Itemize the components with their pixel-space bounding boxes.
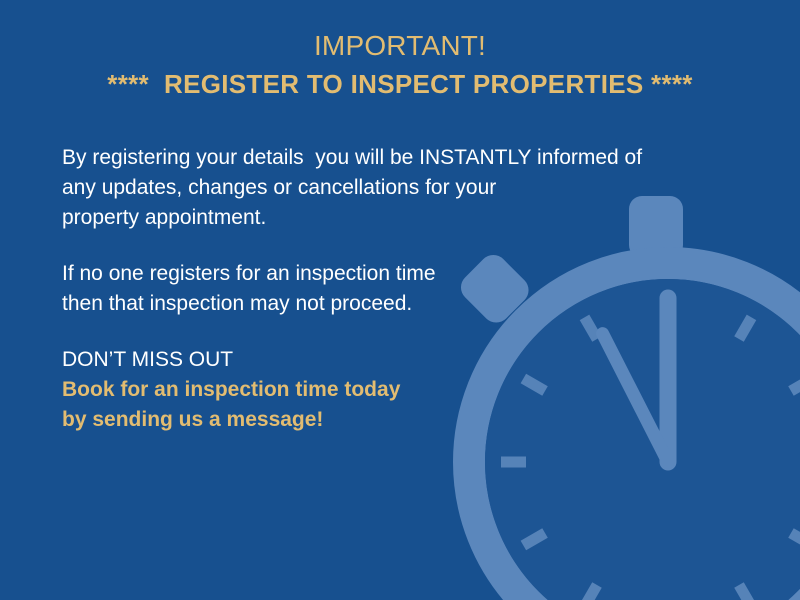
paragraph-call-to-action: DON’T MISS OUT Book for an inspection ti… <box>62 345 722 435</box>
body-block: By registering your details you will be … <box>62 143 722 435</box>
dont-miss-out-line: DON’T MISS OUT <box>62 345 722 375</box>
paragraph-registering: By registering your details you will be … <box>62 143 722 233</box>
paragraph-line: property appointment. <box>62 203 722 233</box>
heading-important: IMPORTANT! <box>0 28 800 64</box>
paragraph-no-registration: If no one registers for an inspection ti… <box>62 259 722 319</box>
heading-register: **** REGISTER TO INSPECT PROPERTIES **** <box>0 64 800 104</box>
paragraph-line: any updates, changes or cancellations fo… <box>62 173 722 203</box>
send-message-line: by sending us a message! <box>62 405 722 435</box>
paragraph-line: then that inspection may not proceed. <box>62 289 722 319</box>
slide-canvas: IMPORTANT! **** REGISTER TO INSPECT PROP… <box>0 0 800 600</box>
book-inspection-line: Book for an inspection time today <box>62 375 722 405</box>
paragraph-line: By registering your details you will be … <box>62 143 722 173</box>
paragraph-line: If no one registers for an inspection ti… <box>62 259 722 289</box>
heading-block: IMPORTANT! **** REGISTER TO INSPECT PROP… <box>0 28 800 104</box>
slide-content: IMPORTANT! **** REGISTER TO INSPECT PROP… <box>0 0 800 600</box>
